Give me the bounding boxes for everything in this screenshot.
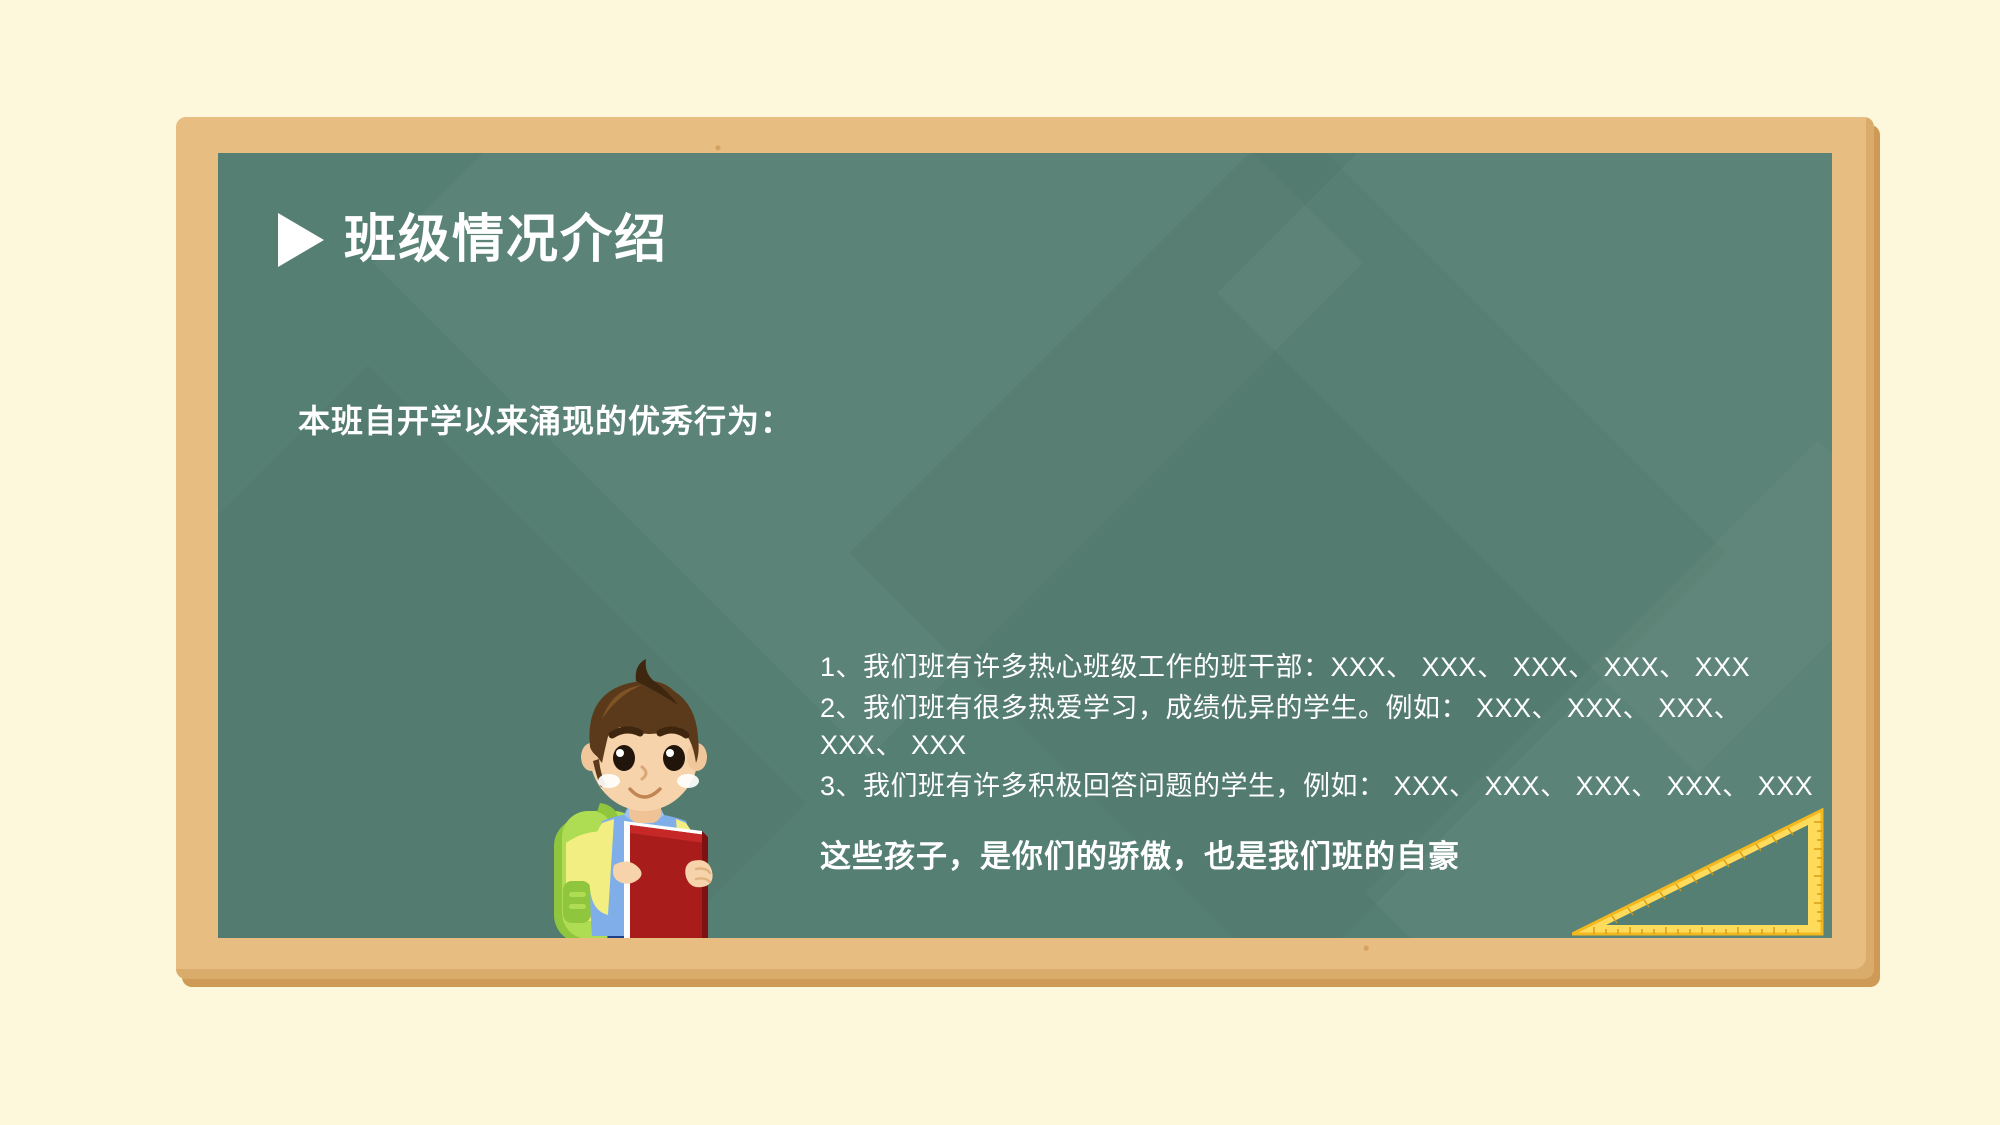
play-triangle-icon [278, 213, 324, 267]
student-boy-illustration [536, 643, 751, 938]
list-item: 1、我们班有许多热心班级工作的班干部：XXX、 XXX、 XXX、 XXX、 X… [820, 649, 1820, 686]
page-title: 班级情况介绍 [344, 214, 668, 266]
chalkboard-wooden-frame: 班级情况介绍 本班自开学以来涌现的优秀行为： 1、我们班有许多热心班级工作的班干… [176, 117, 1874, 979]
page-title-row: 班级情况介绍 [278, 213, 668, 267]
head [581, 659, 707, 811]
list-item: 2、我们班有很多热爱学习，成绩优异的学生。例如： XXX、 XXX、 XXX、 … [820, 690, 1820, 764]
section-subtitle: 本班自开学以来涌现的优秀行为： [298, 396, 793, 442]
slide-canvas: 班级情况介绍 本班自开学以来涌现的优秀行为： 1、我们班有许多热心班级工作的班干… [0, 0, 2000, 1125]
chalkboard-surface: 班级情况介绍 本班自开学以来涌现的优秀行为： 1、我们班有许多热心班级工作的班干… [218, 153, 1832, 938]
triangle-ruler-icon [1572, 798, 1832, 938]
